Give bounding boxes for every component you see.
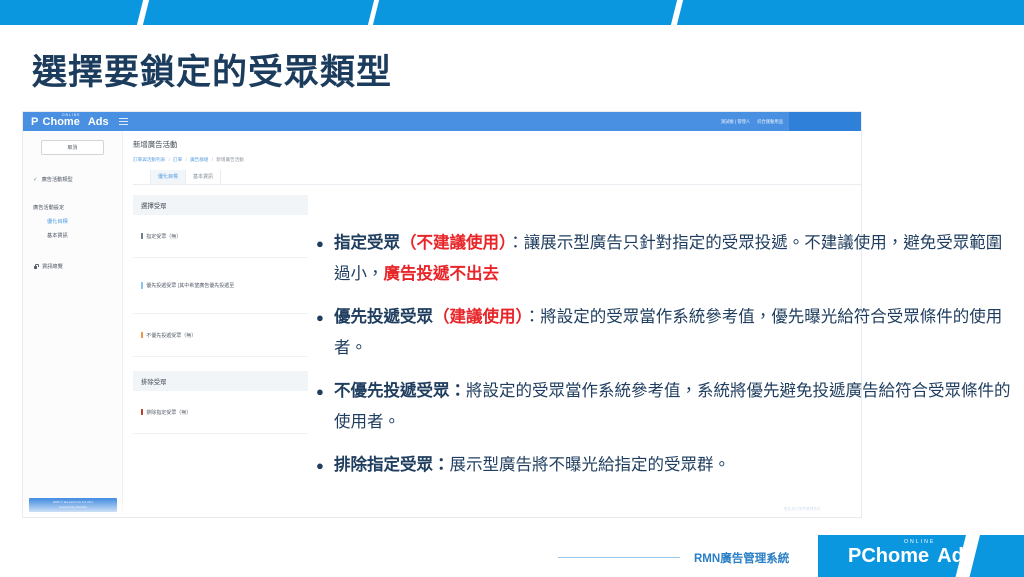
bullet-text: 不優先投遞受眾：將設定的受眾當作系統參考值，系統將優先避免投遞廣告給符合受眾條件… [334, 376, 1012, 438]
audience-label: 優先投遞受眾 (其中希望廣告優先投遞至 [146, 282, 234, 289]
check-icon: ✓ [33, 177, 38, 183]
footer-system-label: RMN廣告管理系統 [694, 550, 789, 566]
screenshot-bottom-fade [23, 499, 861, 517]
audience-marker-icon [141, 282, 143, 289]
logo-p: P [31, 116, 39, 128]
bullet-marker-icon: ● [312, 376, 334, 407]
footer-logo-online-text: ONLINE [904, 539, 935, 545]
bullet-item-excluded-audience: ● 排除指定受眾：展示型廣告將不曝光給指定的受眾群。 [312, 450, 1012, 481]
app-logo: ONLINE P Chome Ads [31, 116, 109, 128]
banner-segment-4 [677, 0, 1024, 25]
audience-row-designated[interactable]: 指定受眾（無） [133, 215, 308, 258]
section-header-exclude-audience: 排除受眾 [133, 371, 308, 391]
footer-brand: ONLINE P Chome Ads [848, 545, 975, 568]
app-header-account-area: 測試帳 | 管理人 綜合運動用品 [721, 119, 789, 125]
bullet-highlight: 廣告投遞不出去 [384, 265, 500, 283]
bullet-list: ● 指定受眾（不建議使用）：讓展示型廣告只針對指定的受眾投遞。不建議使用，避免受… [312, 228, 1012, 493]
sidebar-item-campaign-settings[interactable]: 廣告活動設定 [23, 204, 122, 211]
audience-row-excluded[interactable]: 排除指定受眾（無） [133, 391, 308, 434]
cancel-button[interactable]: 取消 [41, 140, 104, 155]
audience-label: 指定受眾（無） [146, 233, 181, 240]
audience-row-priority[interactable]: 優先投遞受眾 (其中希望廣告優先投遞至 [133, 258, 308, 314]
section-header-select-audience: 選擇受眾 [133, 195, 308, 215]
footer-logo-ads: Ads [937, 545, 975, 568]
bullet-marker-icon: ● [312, 228, 334, 259]
audience-marker-icon [141, 409, 143, 416]
panel-spacer [133, 357, 308, 371]
account-label[interactable]: 測試帳 | 管理人 [721, 119, 750, 125]
breadcrumb-item-0[interactable]: 訂單與活動列表 [133, 157, 165, 162]
bullet-tag: （不建議使用） [400, 234, 507, 252]
bullet-tag: （建議使用） [433, 308, 524, 326]
hamburger-icon[interactable] [119, 118, 128, 125]
audience-marker-icon [141, 233, 143, 240]
sidebar-item-label: 廣告活動設定 [33, 204, 64, 211]
tab-spacer [133, 170, 151, 184]
banner-segment-3 [373, 0, 677, 25]
banner-segment-1 [0, 0, 143, 25]
sidebar-item-overview[interactable]: 資訊總覽 [23, 263, 122, 270]
bullet-lead: 不優先投遞受眾： [334, 382, 466, 400]
page-title: 選擇要鎖定的受眾類型 [32, 44, 392, 95]
app-sidebar: 取消 ✓ 廣告活動類型 廣告活動設定 優化目標 基本資訊 資訊總覽 [23, 131, 123, 518]
app-page-title: 新增廣告活動 [133, 139, 861, 150]
sidebar-item-label: 基本資訊 [47, 232, 68, 239]
breadcrumb-item-3: 新增廣告活動 [216, 157, 244, 162]
slide-root: 選擇要鎖定的受眾類型 ONLINE P Chome Ads 測試帳 | 管理人 … [0, 0, 1024, 577]
bullet-item-designated-audience: ● 指定受眾（不建議使用）：讓展示型廣告只針對指定的受眾投遞。不建議使用，避免受… [312, 228, 1012, 290]
footer-logo-p: P [848, 545, 861, 568]
bullet-item-deprioritized-audience: ● 不優先投遞受眾：將設定的受眾當作系統參考值，系統將優先避免投遞廣告給符合受眾… [312, 376, 1012, 438]
bullet-text: 優先投遞受眾（建議使用）：將設定的受眾當作系統參考值，優先曝光給符合受眾條件的使… [334, 302, 1012, 364]
bullet-marker-icon: ● [312, 450, 334, 481]
bullet-text: 指定受眾（不建議使用）：讓展示型廣告只針對指定的受眾投遞。不建議使用，避免受眾範… [334, 228, 1012, 290]
logo-chome: Chome [43, 116, 80, 128]
bullet-text: 排除指定受眾：展示型廣告將不曝光給指定的受眾群。 [334, 450, 730, 481]
lock-icon [33, 264, 38, 269]
tab-bar: 優化目標 基本資訊 [133, 171, 861, 185]
audience-label: 不優先投遞受眾（無） [146, 332, 196, 339]
tab-basic-info[interactable]: 基本資訊 [186, 170, 221, 184]
sidebar-item-campaign-type[interactable]: ✓ 廣告活動類型 [23, 176, 122, 183]
audience-row-deprioritized[interactable]: 不優先投遞受眾（無） [133, 314, 308, 357]
sidebar-item-label: 廣告活動類型 [42, 176, 73, 183]
breadcrumb-separator: / [186, 157, 187, 162]
tab-optimization-goal[interactable]: 優化目標 [151, 170, 186, 184]
breadcrumb-separator: / [168, 157, 169, 162]
breadcrumb-item-1[interactable]: 訂單 [173, 157, 182, 162]
sidebar-item-label: 資訊總覽 [42, 263, 63, 270]
breadcrumb-item-2[interactable]: 廣告群組 [190, 157, 208, 162]
breadcrumb: 訂單與活動列表 / 訂單 / 廣告群組 / 新增廣告活動 [133, 157, 861, 163]
bullet-lead: 優先投遞受眾 [334, 308, 433, 326]
app-header: ONLINE P Chome Ads 測試帳 | 管理人 綜合運動用品 [23, 112, 861, 131]
header-right-block [789, 112, 861, 131]
audience-label: 排除指定受眾（無） [146, 409, 191, 416]
footer-wedge-2 [970, 535, 1024, 577]
sidebar-item-optimization-goal[interactable]: 優化目標 [23, 218, 122, 225]
sidebar-item-basic-info[interactable]: 基本資訊 [23, 232, 122, 239]
logo-ads: Ads [88, 116, 109, 128]
top-decorative-banner [0, 0, 1024, 25]
bullet-lead: 指定受眾 [334, 234, 400, 252]
bullet-lead: 排除指定受眾： [334, 456, 450, 474]
audience-marker-icon [141, 332, 143, 339]
bullet-item-priority-audience: ● 優先投遞受眾（建議使用）：將設定的受眾當作系統參考值，優先曝光給符合受眾條件… [312, 302, 1012, 364]
footer-logo-chome: Chome [861, 545, 929, 568]
banner-segment-2 [143, 0, 374, 25]
bullet-body: 展示型廣告將不曝光給指定的受眾群。 [450, 456, 731, 474]
breadcrumb-separator: / [212, 157, 213, 162]
footer-divider [558, 557, 680, 558]
audience-panel: 選擇受眾 指定受眾（無） 優先投遞受眾 (其中希望廣告優先投遞至 不優先投遞受眾… [133, 195, 308, 434]
sidebar-item-label: 優化目標 [47, 218, 68, 225]
logo-online-text: ONLINE [62, 113, 80, 117]
footer-logo: ONLINE P Chome Ads [818, 535, 1024, 577]
bullet-marker-icon: ● [312, 302, 334, 333]
store-label[interactable]: 綜合運動用品 [757, 119, 783, 125]
